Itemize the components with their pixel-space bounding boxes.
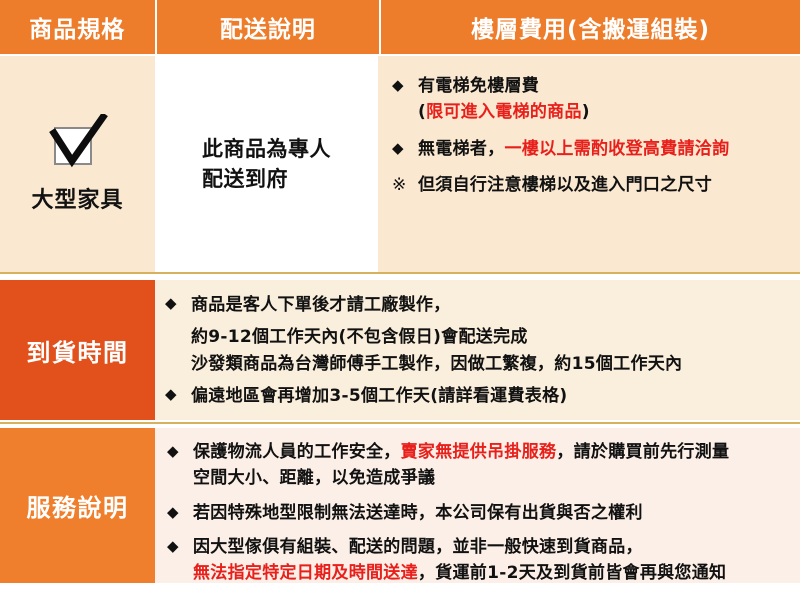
cell-arrival-time-content: ◆ 商品是客人下單後才請工廠製作， 約9-12個工作天內(不包含假日)會配送完成… — [155, 280, 800, 420]
list-item: ◆ 若因特殊地型限制無法送達時，本公司保有出貨與否之權利 — [167, 501, 790, 527]
divider-gold-bottom — [0, 422, 800, 424]
delivery-note-line-1: 此商品為專人 — [202, 134, 331, 164]
table-header-row: 商品規格 配送說明 樓層費用(含搬運組裝) — [0, 0, 800, 54]
diamond-bullet-icon: ◆ — [167, 440, 193, 492]
cell-arrival-time-label: 到貨時間 — [0, 280, 155, 420]
list-item: ※ 但須自行注意樓梯以及進入門口之尺寸 — [392, 173, 786, 199]
floor-fee-item-1-line-2: (限可進入電梯的商品) — [418, 100, 786, 126]
product-spec-label: 大型家具 — [31, 182, 123, 214]
table-row-service-note: 服務說明 ◆ 保護物流人員的工作安全，賣家無提供吊掛服務，請於購買前先行測量 空… — [0, 428, 800, 583]
header-cell-floor-fee: 樓層費用(含搬運組裝) — [381, 0, 800, 54]
cell-service-note-label: 服務說明 — [0, 428, 155, 583]
table-row-large-furniture: 大型家具 此商品為專人 配送到府 ◆ 有電梯免樓層費 (限可進入電梯的商品) ◆… — [0, 56, 800, 272]
header-cell-product-spec: 商品規格 — [0, 0, 155, 54]
service-item-3-line-1: 因大型傢俱有組裝、配送的問題，並非一般快速到貨商品， — [193, 535, 790, 561]
arrival-item-2-text: 偏遠地區會再增加3-5個工作天(請詳看運費表格) — [191, 383, 790, 411]
arrival-item-1-subline-1: 約9-12個工作天內(不包含假日)會配送完成 — [165, 324, 790, 352]
arrival-item-1-subline-2: 沙發類商品為台灣師傅手工製作，因做工繁複，約15個工作天內 — [165, 351, 790, 379]
diamond-bullet-icon: ◆ — [167, 535, 193, 587]
diamond-bullet-icon: ◆ — [165, 292, 191, 320]
service-item-1-red: 賣家無提供吊掛服務 — [401, 442, 557, 462]
table-row-arrival-time: 到貨時間 ◆ 商品是客人下單後才請工廠製作， 約9-12個工作天內(不包含假日)… — [0, 280, 800, 420]
list-item: ◆ 因大型傢俱有組裝、配送的問題，並非一般快速到貨商品， 無法指定特定日期及時間… — [167, 535, 790, 587]
list-item: ◆ 偏遠地區會再增加3-5個工作天(請詳看運費表格) — [165, 383, 790, 411]
reference-mark-icon: ※ — [392, 173, 418, 199]
service-item-1-seg1: 保護物流人員的工作安全， — [193, 442, 401, 462]
floor-fee-item-1-line-1: 有電梯免樓層費 — [418, 74, 786, 100]
service-item-3-red: 無法指定特定日期及時間送達 — [193, 563, 418, 583]
floor-fee-item-1-text: 有電梯免樓層費 (限可進入電梯的商品) — [418, 74, 786, 126]
list-item: ◆ 無電梯者，一樓以上需酌收登高費請洽詢 — [392, 137, 786, 163]
diamond-bullet-icon: ◆ — [392, 74, 418, 126]
service-item-1-seg3: ，請於購買前先行測量 — [556, 442, 729, 462]
header-cell-delivery-note: 配送說明 — [157, 0, 379, 54]
checkbox-check-icon — [47, 114, 109, 170]
cell-delivery-note: 此商品為專人 配送到府 — [155, 56, 378, 272]
floor-fee-item-2-red: 一樓以上需酌收登高費請洽詢 — [505, 139, 730, 159]
service-item-3-text: 因大型傢俱有組裝、配送的問題，並非一般快速到貨商品， 無法指定特定日期及時間送達… — [193, 535, 790, 587]
cell-floor-fee: ◆ 有電梯免樓層費 (限可進入電梯的商品) ◆ 無電梯者，一樓以上需酌收登高費請… — [378, 56, 800, 272]
floor-fee-item-2-text: 無電梯者，一樓以上需酌收登高費請洽詢 — [418, 137, 786, 163]
list-item: ◆ 保護物流人員的工作安全，賣家無提供吊掛服務，請於購買前先行測量 空間大小、距… — [167, 440, 790, 492]
diamond-bullet-icon: ◆ — [167, 501, 193, 527]
cell-service-note-content: ◆ 保護物流人員的工作安全，賣家無提供吊掛服務，請於購買前先行測量 空間大小、距… — [155, 428, 800, 583]
delivery-note-text: 此商品為專人 配送到府 — [202, 134, 331, 195]
delivery-note-line-2: 配送到府 — [202, 164, 331, 194]
service-item-3-rest: ，貨運前1-2天及到貨前皆會再與您通知 — [418, 563, 726, 583]
service-item-3-line-2: 無法指定特定日期及時間送達，貨運前1-2天及到貨前皆會再與您通知 — [193, 561, 790, 587]
floor-fee-item-1-red: 限可進入電梯的商品 — [426, 102, 582, 122]
paren-open: ( — [418, 102, 426, 122]
list-item: ◆ 商品是客人下單後才請工廠製作， — [165, 292, 790, 320]
service-item-1-text: 保護物流人員的工作安全，賣家無提供吊掛服務，請於購買前先行測量 空間大小、距離，… — [193, 440, 790, 492]
floor-fee-item-3-text: 但須自行注意樓梯以及進入門口之尺寸 — [418, 173, 786, 199]
paren-close: ) — [582, 102, 590, 122]
diamond-bullet-icon: ◆ — [165, 383, 191, 411]
divider-gold-top — [0, 272, 800, 274]
arrival-item-1-text: 商品是客人下單後才請工廠製作， — [191, 292, 790, 320]
shipping-info-table: 商品規格 配送說明 樓層費用(含搬運組裝) 大型家具 此商品為專人 配送到府 ◆ — [0, 0, 800, 595]
service-item-1-line-1: 保護物流人員的工作安全，賣家無提供吊掛服務，請於購買前先行測量 — [193, 440, 790, 466]
diamond-bullet-icon: ◆ — [392, 137, 418, 163]
service-item-2-text: 若因特殊地型限制無法送達時，本公司保有出貨與否之權利 — [193, 501, 790, 527]
list-item: ◆ 有電梯免樓層費 (限可進入電梯的商品) — [392, 74, 786, 126]
service-item-1-line-2: 空間大小、距離，以免造成爭議 — [193, 466, 790, 492]
cell-product-spec: 大型家具 — [0, 56, 155, 272]
floor-fee-item-2-black: 無電梯者， — [418, 139, 505, 159]
